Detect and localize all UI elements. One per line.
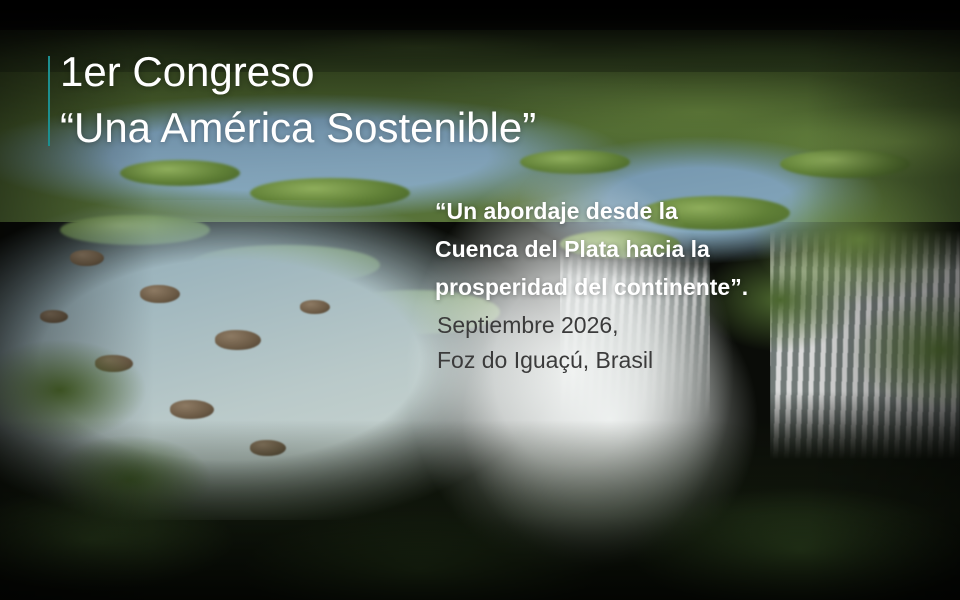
quote-line-3: prosperidad del continente”. xyxy=(435,268,835,306)
sponsor-logo-row: F U N D A C I Ó N AMÉRICA SOSTENIBLE xyxy=(0,430,960,600)
title-line-1: 1er Congreso xyxy=(60,44,700,100)
congress-theme-quote: “Un abordaje desde la Cuenca del Plata h… xyxy=(435,192,835,306)
page-title: 1er Congreso “Una América Sostenible” xyxy=(60,44,700,156)
quote-line-2: Cuenca del Plata hacia la xyxy=(435,230,835,268)
congress-title-slide: 1er Congreso “Una América Sostenible” “U… xyxy=(0,0,960,600)
event-location: Foz do Iguaçú, Brasil xyxy=(437,343,837,378)
title-accent-bar xyxy=(48,56,50,146)
quote-line-1: “Un abordaje desde la xyxy=(435,192,835,230)
title-line-2: “Una América Sostenible” xyxy=(60,100,700,156)
event-date: Septiembre 2026, xyxy=(437,308,837,343)
event-details: Septiembre 2026, Foz do Iguaçú, Brasil xyxy=(437,308,837,378)
